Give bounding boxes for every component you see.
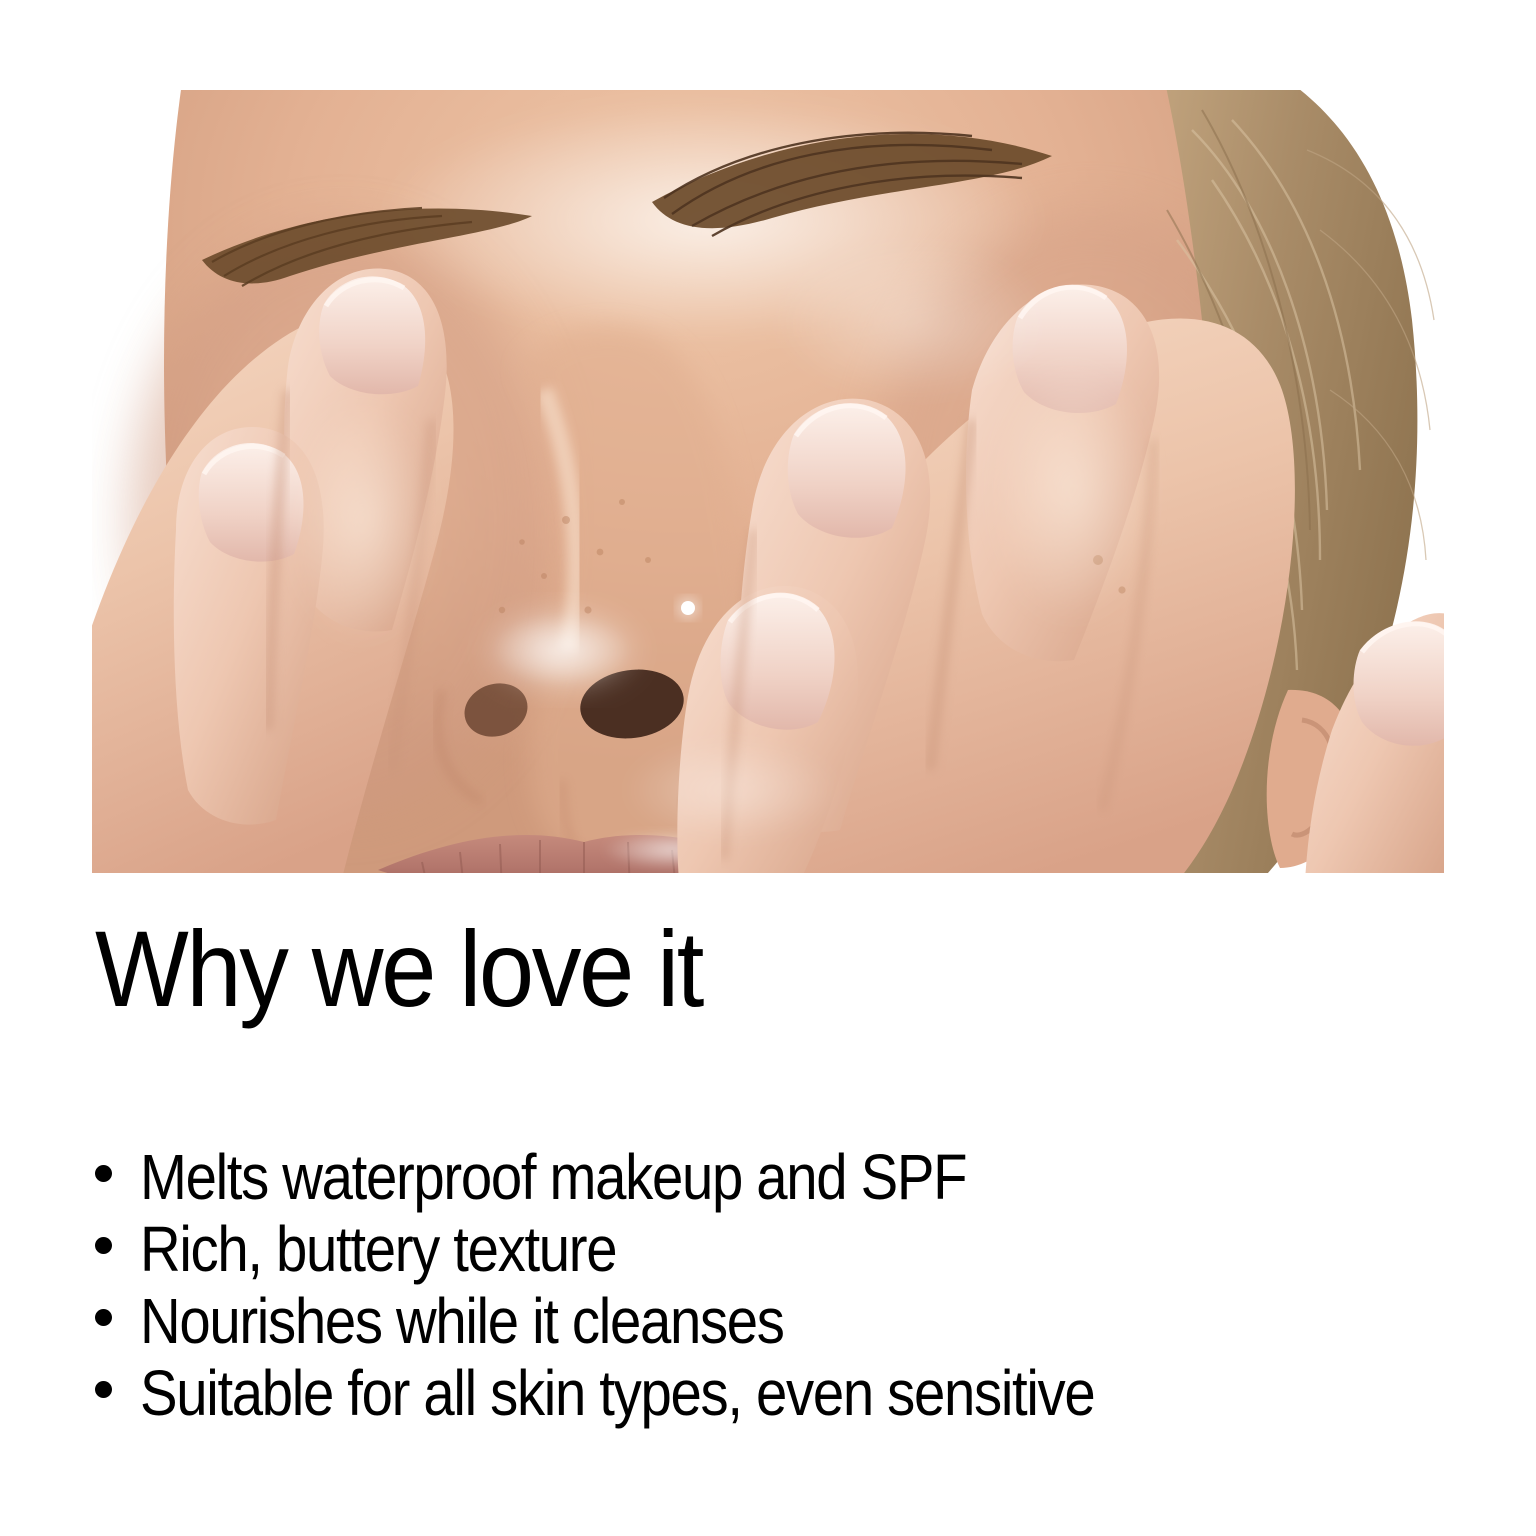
bullet-icon bbox=[95, 1165, 112, 1182]
product-benefits-card: Why we love it Melts waterproof makeup a… bbox=[0, 0, 1536, 1536]
list-item: Melts waterproof makeup and SPF bbox=[95, 1141, 1441, 1213]
page-title-text: Why we love it bbox=[95, 915, 702, 1023]
list-item: Suitable for all skin types, even sensit… bbox=[95, 1357, 1441, 1429]
face-illustration bbox=[92, 90, 1444, 873]
benefits-list: Melts waterproof makeup and SPF Rich, bu… bbox=[95, 1141, 1441, 1429]
bullet-icon bbox=[95, 1309, 112, 1326]
page-title: Why we love it bbox=[95, 915, 1441, 1023]
bullet-icon bbox=[95, 1381, 112, 1398]
list-item-label: Rich, buttery texture bbox=[140, 1213, 616, 1285]
list-item-label: Melts waterproof makeup and SPF bbox=[140, 1141, 966, 1213]
list-item-label: Suitable for all skin types, even sensit… bbox=[140, 1357, 1094, 1429]
nose-stud bbox=[676, 596, 700, 620]
copy-block: Why we love it Melts waterproof makeup a… bbox=[95, 915, 1441, 1429]
list-item-label: Nourishes while it cleanses bbox=[140, 1285, 784, 1357]
hero-image bbox=[92, 90, 1444, 873]
list-item: Rich, buttery texture bbox=[95, 1213, 1441, 1285]
bullet-icon bbox=[95, 1237, 112, 1254]
list-item: Nourishes while it cleanses bbox=[95, 1285, 1441, 1357]
